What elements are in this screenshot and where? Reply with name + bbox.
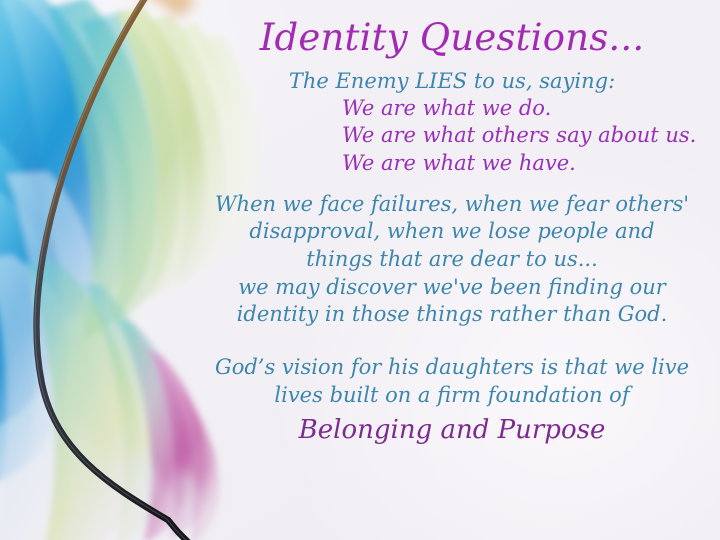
lies-list: We are what we do. We are what others sa… [196,95,708,177]
slide-canvas: Identity Questions... The Enemy LIES to … [0,0,720,540]
paragraph-line: When we face failures, when we fear othe… [196,191,708,219]
paragraph-one: When we face failures, when we fear othe… [196,191,708,329]
page-title: Identity Questions... [196,0,708,58]
lies-line: We are what we have. [342,150,708,177]
lead-line: The Enemy LIES to us, saying: [196,68,708,94]
paragraph-line: we may discover we've been finding our [196,274,708,302]
paragraph-two: God’s vision for his daughters is that w… [196,354,708,409]
lies-line: We are what others say about us. [342,122,708,149]
paragraph-line: God’s vision for his daughters is that w… [196,354,708,382]
paragraph-line: identity in those things rather than God… [196,301,708,329]
paragraph-line: disapproval, when we lose people and [196,218,708,246]
finale-line: Belonging and Purpose [196,415,708,446]
lies-line: We are what we do. [342,95,708,122]
paragraph-line: lives built on a firm foundation of [196,382,708,410]
text-column: Identity Questions... The Enemy LIES to … [196,0,708,540]
paragraph-line: things that are dear to us... [196,246,708,274]
